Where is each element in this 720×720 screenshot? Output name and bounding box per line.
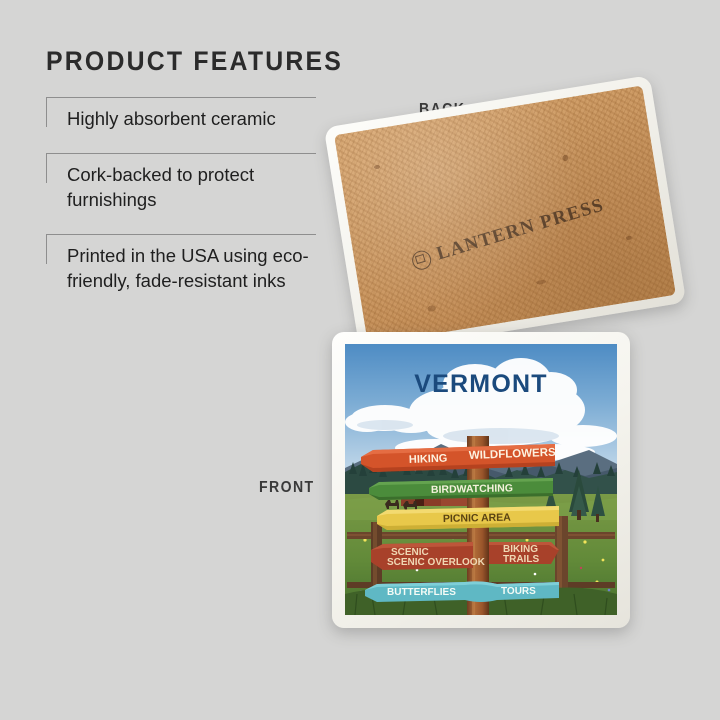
page-title: PRODUCT FEATURES — [46, 48, 294, 75]
coaster-back-view: LANTERN PRESS — [324, 75, 687, 355]
product-features-panel: PRODUCT FEATURES Highly absorbent cerami… — [46, 48, 316, 293]
lantern-icon — [410, 248, 434, 272]
artwork-scene: HIKING WILDFLOWERS BIRDWATCHING PICNIC A… — [345, 344, 617, 615]
sign-label: HIKING — [409, 453, 448, 466]
feature-text: Printed in the USA using eco-friendly, f… — [67, 234, 316, 293]
sign-label: TOURS — [501, 586, 536, 597]
feature-tick — [46, 234, 47, 264]
feature-item: Printed in the USA using eco-friendly, f… — [46, 234, 316, 293]
sign-label: TRAILS — [503, 554, 539, 565]
feature-divider — [46, 153, 316, 154]
feature-text: Cork-backed to protect furnishings — [67, 153, 316, 212]
product-feature-graphic: PRODUCT FEATURES Highly absorbent cerami… — [0, 0, 720, 720]
feature-item: Cork-backed to protect furnishings — [46, 153, 316, 212]
artwork-title: VERMONT — [414, 370, 547, 398]
sign-label: SCENIC OVERLOOK — [387, 557, 486, 568]
feature-item: Highly absorbent ceramic — [46, 97, 316, 131]
feature-text: Highly absorbent ceramic — [67, 97, 316, 131]
sign-label: BIRDWATCHING — [431, 482, 513, 496]
coaster-artwork: HIKING WILDFLOWERS BIRDWATCHING PICNIC A… — [345, 344, 617, 615]
sign-label: BUTTERFLIES — [387, 587, 456, 598]
brand-name: LANTERN PRESS — [434, 195, 607, 266]
sign-label: PICNIC AREA — [443, 512, 512, 525]
feature-divider — [46, 234, 316, 235]
feature-tick — [46, 153, 47, 183]
coaster-front-view: HIKING WILDFLOWERS BIRDWATCHING PICNIC A… — [332, 332, 630, 628]
front-callout-label: FRONT — [259, 479, 315, 497]
brand-stamp: LANTERN PRESS — [409, 195, 607, 273]
feature-divider — [46, 97, 316, 98]
feature-tick — [46, 97, 47, 127]
